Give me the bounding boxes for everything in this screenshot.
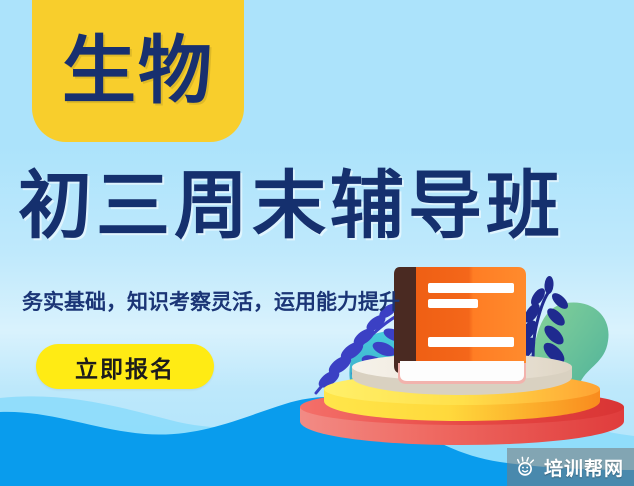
page-title: 初三周末辅导班 — [18, 168, 564, 246]
book-line-2 — [428, 299, 478, 308]
book-line-1 — [428, 283, 514, 293]
course-promo-poster: 生物 初三周末辅导班 务实基础，知识考察灵活，运用能力提升 立即报名 — [0, 0, 634, 486]
watermark: 培训帮网 — [507, 448, 634, 486]
enroll-now-button-label: 立即报名 — [75, 350, 175, 384]
book-podium-illustration — [290, 255, 634, 455]
enroll-now-button[interactable]: 立即报名 — [36, 344, 214, 389]
sun-face-icon — [515, 456, 537, 478]
book-illustration — [394, 267, 526, 384]
subtitle-text: 务实基础，知识考察灵活，运用能力提升 — [22, 286, 400, 316]
book-line-3 — [428, 337, 514, 347]
subject-badge: 生物 — [32, 0, 244, 142]
watermark-label: 培训帮网 — [544, 454, 624, 481]
subject-badge-label: 生物 — [62, 34, 214, 108]
